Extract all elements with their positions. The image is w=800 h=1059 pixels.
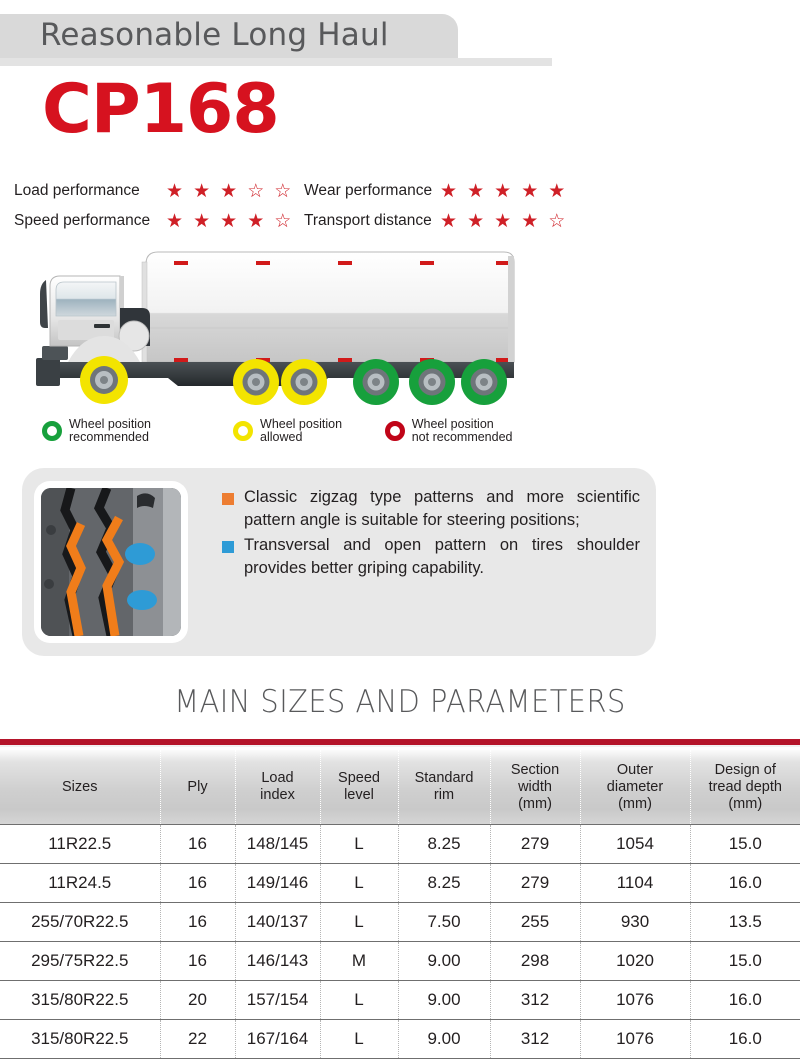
cell-standard-rim: 8.25 — [398, 864, 490, 903]
cell-size: 295/75R22.5 — [0, 942, 160, 981]
cell-outer-diameter: 1054 — [580, 825, 690, 864]
cell-load-index: 157/154 — [235, 981, 320, 1020]
cell-speed-level: L — [320, 903, 398, 942]
rating-stars-transport: ★ ★ ★ ★ ☆ — [440, 212, 567, 231]
cell-standard-rim: 9.00 — [398, 1020, 490, 1059]
table-row: 295/75R22.5 16 146/143 M 9.00 298 1020 1… — [0, 942, 800, 981]
cell-ply: 16 — [160, 942, 235, 981]
col-header-outer-diameter: Outer diameter (mm) — [580, 750, 690, 825]
legend-line1: Wheel position — [69, 417, 151, 431]
cell-speed-level: M — [320, 942, 398, 981]
tread-svg — [41, 488, 181, 636]
cell-outer-diameter: 1076 — [580, 981, 690, 1020]
cell-speed-level: L — [320, 864, 398, 903]
cell-load-index: 140/137 — [235, 903, 320, 942]
legend-line1: Wheel position — [260, 417, 342, 431]
legend-item-allowed: Wheel position allowed — [233, 418, 385, 444]
cell-section-width: 312 — [490, 981, 580, 1020]
legend-text-allowed: Wheel position allowed — [260, 418, 342, 444]
table-row: 315/80R22.5 22 167/164 L 9.00 312 1076 1… — [0, 1020, 800, 1059]
cell-speed-level: L — [320, 981, 398, 1020]
feature-bullets: Classic zigzag type patterns and more sc… — [222, 486, 640, 582]
cell-ply: 16 — [160, 903, 235, 942]
rating-label-speed: Speed performance — [14, 212, 166, 230]
rating-label-wear: Wear performance — [304, 182, 440, 200]
table-row: 11R24.5 16 149/146 L 8.25 279 1104 16.0 — [0, 864, 800, 903]
col-header-standard-rim: Standard rim — [398, 750, 490, 825]
cell-load-index: 146/143 — [235, 942, 320, 981]
wheel-6 — [461, 359, 507, 405]
spec-table-title: MAIN SIZES AND PARAMETERS — [28, 684, 772, 720]
cell-size: 11R24.5 — [0, 864, 160, 903]
wheel-3 — [281, 359, 327, 405]
legend-item-not-recommended: Wheel position not recommended — [385, 418, 572, 444]
cell-load-index: 149/146 — [235, 864, 320, 903]
performance-ratings: Load performance ★ ★ ★ ☆ ☆ Wear performa… — [14, 176, 584, 236]
yellow-ring-icon — [233, 421, 253, 441]
cell-section-width: 279 — [490, 864, 580, 903]
wheel-1 — [80, 356, 128, 404]
trailer-body — [142, 252, 514, 362]
windshield — [56, 282, 116, 316]
feature-panel: Classic zigzag type patterns and more sc… — [22, 468, 656, 656]
feature-bullet-text-2: Transversal and open pattern on tires sh… — [244, 534, 640, 580]
cell-section-width: 298 — [490, 942, 580, 981]
cell-size: 315/80R22.5 — [0, 981, 160, 1020]
feature-bullet-1: Classic zigzag type patterns and more sc… — [222, 486, 640, 532]
col-header-sizes: Sizes — [0, 750, 160, 825]
legend-text-not-recommended: Wheel position not recommended — [412, 418, 513, 444]
col-header-ply: Ply — [160, 750, 235, 825]
front-bumper — [36, 358, 60, 386]
blue-square-icon — [222, 541, 234, 553]
bumper-step — [42, 346, 68, 360]
cell-tread-depth: 16.0 — [690, 1020, 800, 1059]
wheel-5 — [409, 359, 455, 405]
cell-section-width: 279 — [490, 825, 580, 864]
cell-ply: 20 — [160, 981, 235, 1020]
cell-ply: 16 — [160, 864, 235, 903]
tagline: Reasonable Long Haul — [40, 12, 450, 58]
cell-speed-level: L — [320, 1020, 398, 1059]
tread-image-frame — [34, 481, 188, 643]
cell-standard-rim: 9.00 — [398, 942, 490, 981]
rating-stars-wear: ★ ★ ★ ★ ★ — [440, 182, 567, 201]
cell-load-index: 167/164 — [235, 1020, 320, 1059]
green-ring-icon — [42, 421, 62, 441]
cell-load-index: 148/145 — [235, 825, 320, 864]
header-banner: Reasonable Long Haul — [0, 14, 552, 66]
legend-text-recommended: Wheel position recommended — [69, 418, 151, 444]
cell-outer-diameter: 1020 — [580, 942, 690, 981]
wheel-position-legend: Wheel position recommended Wheel positio… — [42, 418, 572, 444]
cell-outer-diameter: 1076 — [580, 1020, 690, 1059]
spec-table: Sizes Ply Load index Speed level Standar… — [0, 750, 800, 1059]
cell-size: 255/70R22.5 — [0, 903, 160, 942]
cell-speed-level: L — [320, 825, 398, 864]
cell-tread-depth: 15.0 — [690, 942, 800, 981]
orange-square-icon — [222, 493, 234, 505]
col-header-load-index: Load index — [235, 750, 320, 825]
legend-line2: not recommended — [412, 430, 513, 444]
table-row: 315/80R22.5 20 157/154 L 9.00 312 1076 1… — [0, 981, 800, 1020]
tread-pattern-image — [41, 488, 181, 636]
cell-standard-rim: 7.50 — [398, 903, 490, 942]
spec-table-body: 11R22.5 16 148/145 L 8.25 279 1054 15.0 … — [0, 825, 800, 1059]
cell-section-width: 312 — [490, 1020, 580, 1059]
wheel-2 — [233, 359, 279, 405]
truck-svg — [28, 250, 558, 412]
side-mirror — [40, 280, 48, 328]
col-header-tread-depth: Design of tread depth (mm) — [690, 750, 800, 825]
cell-tread-depth: 13.5 — [690, 903, 800, 942]
red-ring-icon — [385, 421, 405, 441]
accent-bar-highlight — [0, 745, 800, 747]
legend-line1: Wheel position — [412, 417, 494, 431]
cell-outer-diameter: 1104 — [580, 864, 690, 903]
rating-label-load: Load performance — [14, 182, 166, 200]
table-header-row: Sizes Ply Load index Speed level Standar… — [0, 750, 800, 825]
rating-stars-speed: ★ ★ ★ ★ ☆ — [166, 212, 293, 231]
wheel-4 — [353, 359, 399, 405]
table-row: 255/70R22.5 16 140/137 L 7.50 255 930 13… — [0, 903, 800, 942]
legend-line2: recommended — [69, 430, 149, 444]
cell-section-width: 255 — [490, 903, 580, 942]
cell-tread-depth: 16.0 — [690, 864, 800, 903]
cell-tread-depth: 15.0 — [690, 825, 800, 864]
cell-size: 11R22.5 — [0, 825, 160, 864]
cell-outer-diameter: 930 — [580, 903, 690, 942]
cell-tread-depth: 16.0 — [690, 981, 800, 1020]
feature-bullet-2: Transversal and open pattern on tires sh… — [222, 534, 640, 580]
cell-ply: 22 — [160, 1020, 235, 1059]
cell-standard-rim: 9.00 — [398, 981, 490, 1020]
feature-bullet-text-1: Classic zigzag type patterns and more sc… — [244, 486, 640, 532]
cell-size: 315/80R22.5 — [0, 1020, 160, 1059]
rating-stars-load: ★ ★ ★ ☆ ☆ — [166, 182, 293, 201]
truck-illustration — [28, 250, 558, 412]
table-row: 11R22.5 16 148/145 L 8.25 279 1054 15.0 — [0, 825, 800, 864]
door-handle — [94, 324, 110, 328]
page-title: CP168 — [42, 74, 279, 146]
col-header-section-width: Section width (mm) — [490, 750, 580, 825]
legend-line2: allowed — [260, 430, 302, 444]
col-header-speed-level: Speed level — [320, 750, 398, 825]
cell-standard-rim: 8.25 — [398, 825, 490, 864]
rating-label-transport: Transport distance — [304, 212, 440, 230]
cell-ply: 16 — [160, 825, 235, 864]
banner-strip — [0, 58, 552, 66]
legend-item-recommended: Wheel position recommended — [42, 418, 233, 444]
